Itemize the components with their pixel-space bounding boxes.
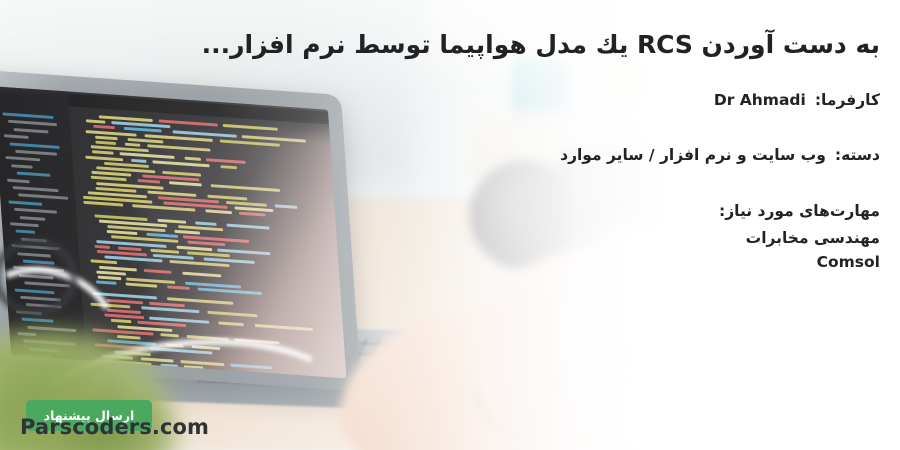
category-label: دسته: [835,146,880,164]
category-row: دسته:وب سایت و نرم افزار / سایر موارد [560,146,880,164]
project-banner: به دست آوردن RCS یك مدل هواپیما توسط نرم… [0,0,900,450]
employer-name: Dr Ahmadi [714,91,806,109]
skill-item: Comsol [719,250,880,274]
employer-label: کارفرما: [815,91,880,109]
category-value: وب سایت و نرم افزار / سایر موارد [560,146,826,164]
skills-section: مهارت‌های مورد نیاز: مهندسی مخابرات Coms… [719,199,880,274]
banner-content: به دست آوردن RCS یك مدل هواپیما توسط نرم… [0,0,900,450]
project-title: به دست آوردن RCS یك مدل هواپیما توسط نرم… [120,29,880,60]
parscoders-logo: Parscoders.com [20,415,209,439]
employer-row: کارفرما:Dr Ahmadi [714,91,880,109]
skill-item: مهندسی مخابرات [719,226,880,250]
skills-label: مهارت‌های مورد نیاز: [719,199,880,223]
